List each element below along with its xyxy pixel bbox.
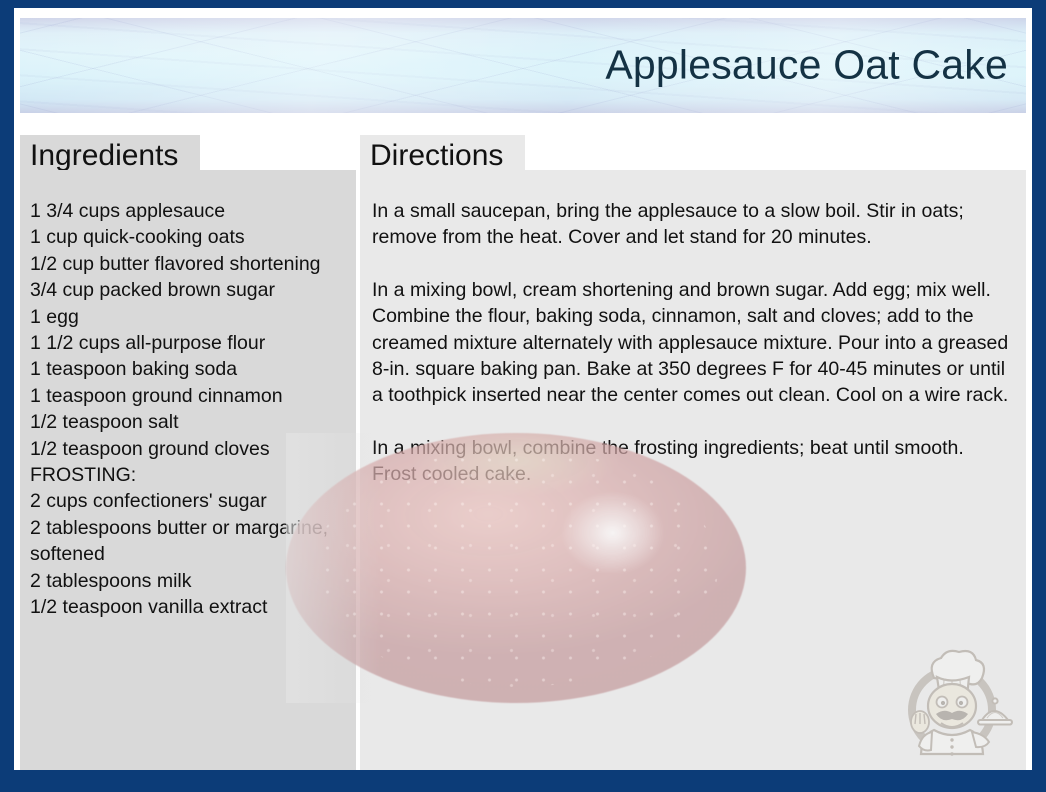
list-item: 1/2 teaspoon vanilla extract (30, 594, 350, 620)
list-item: 2 tablespoons butter or margarine, (30, 515, 350, 541)
list-item: 1 1/2 cups all-purpose flour (30, 330, 350, 356)
list-item: 2 cups confectioners' sugar (30, 488, 350, 514)
directions-body: In a small saucepan, bring the applesauc… (372, 198, 1012, 488)
list-item: 2 tablespoons milk (30, 568, 350, 594)
list-item: 1/2 cup butter flavored shortening (30, 251, 350, 277)
chef-mascot-logo (894, 644, 1018, 762)
ingredients-panel: 1 3/4 cups applesauce 1 cup quick-cookin… (20, 170, 356, 770)
header-banner: Applesauce Oat Cake (20, 18, 1026, 113)
direction-paragraph: In a small saucepan, bring the applesauc… (372, 198, 1012, 251)
direction-paragraph: In a mixing bowl, combine the frosting i… (372, 435, 1012, 488)
list-item: 1 teaspoon ground cinnamon (30, 383, 350, 409)
recipe-card: Applesauce Oat Cake Ingredients 1 3/4 cu… (0, 0, 1046, 792)
list-item: 1/2 teaspoon salt (30, 409, 350, 435)
list-item: 1 cup quick-cooking oats (30, 224, 350, 250)
page-title: Applesauce Oat Cake (605, 41, 1008, 88)
direction-paragraph: In a mixing bowl, cream shortening and b… (372, 277, 1012, 409)
list-item: 1 teaspoon baking soda (30, 356, 350, 382)
list-item: FROSTING: (30, 462, 350, 488)
list-item: 3/4 cup packed brown sugar (30, 277, 350, 303)
list-item: 1 egg (30, 304, 350, 330)
list-item: 1 3/4 cups applesauce (30, 198, 350, 224)
ingredients-list: 1 3/4 cups applesauce 1 cup quick-cookin… (30, 198, 350, 621)
list-item: softened (30, 541, 350, 567)
list-item: 1/2 teaspoon ground cloves (30, 436, 350, 462)
recipe-page: Applesauce Oat Cake Ingredients 1 3/4 cu… (14, 8, 1032, 770)
